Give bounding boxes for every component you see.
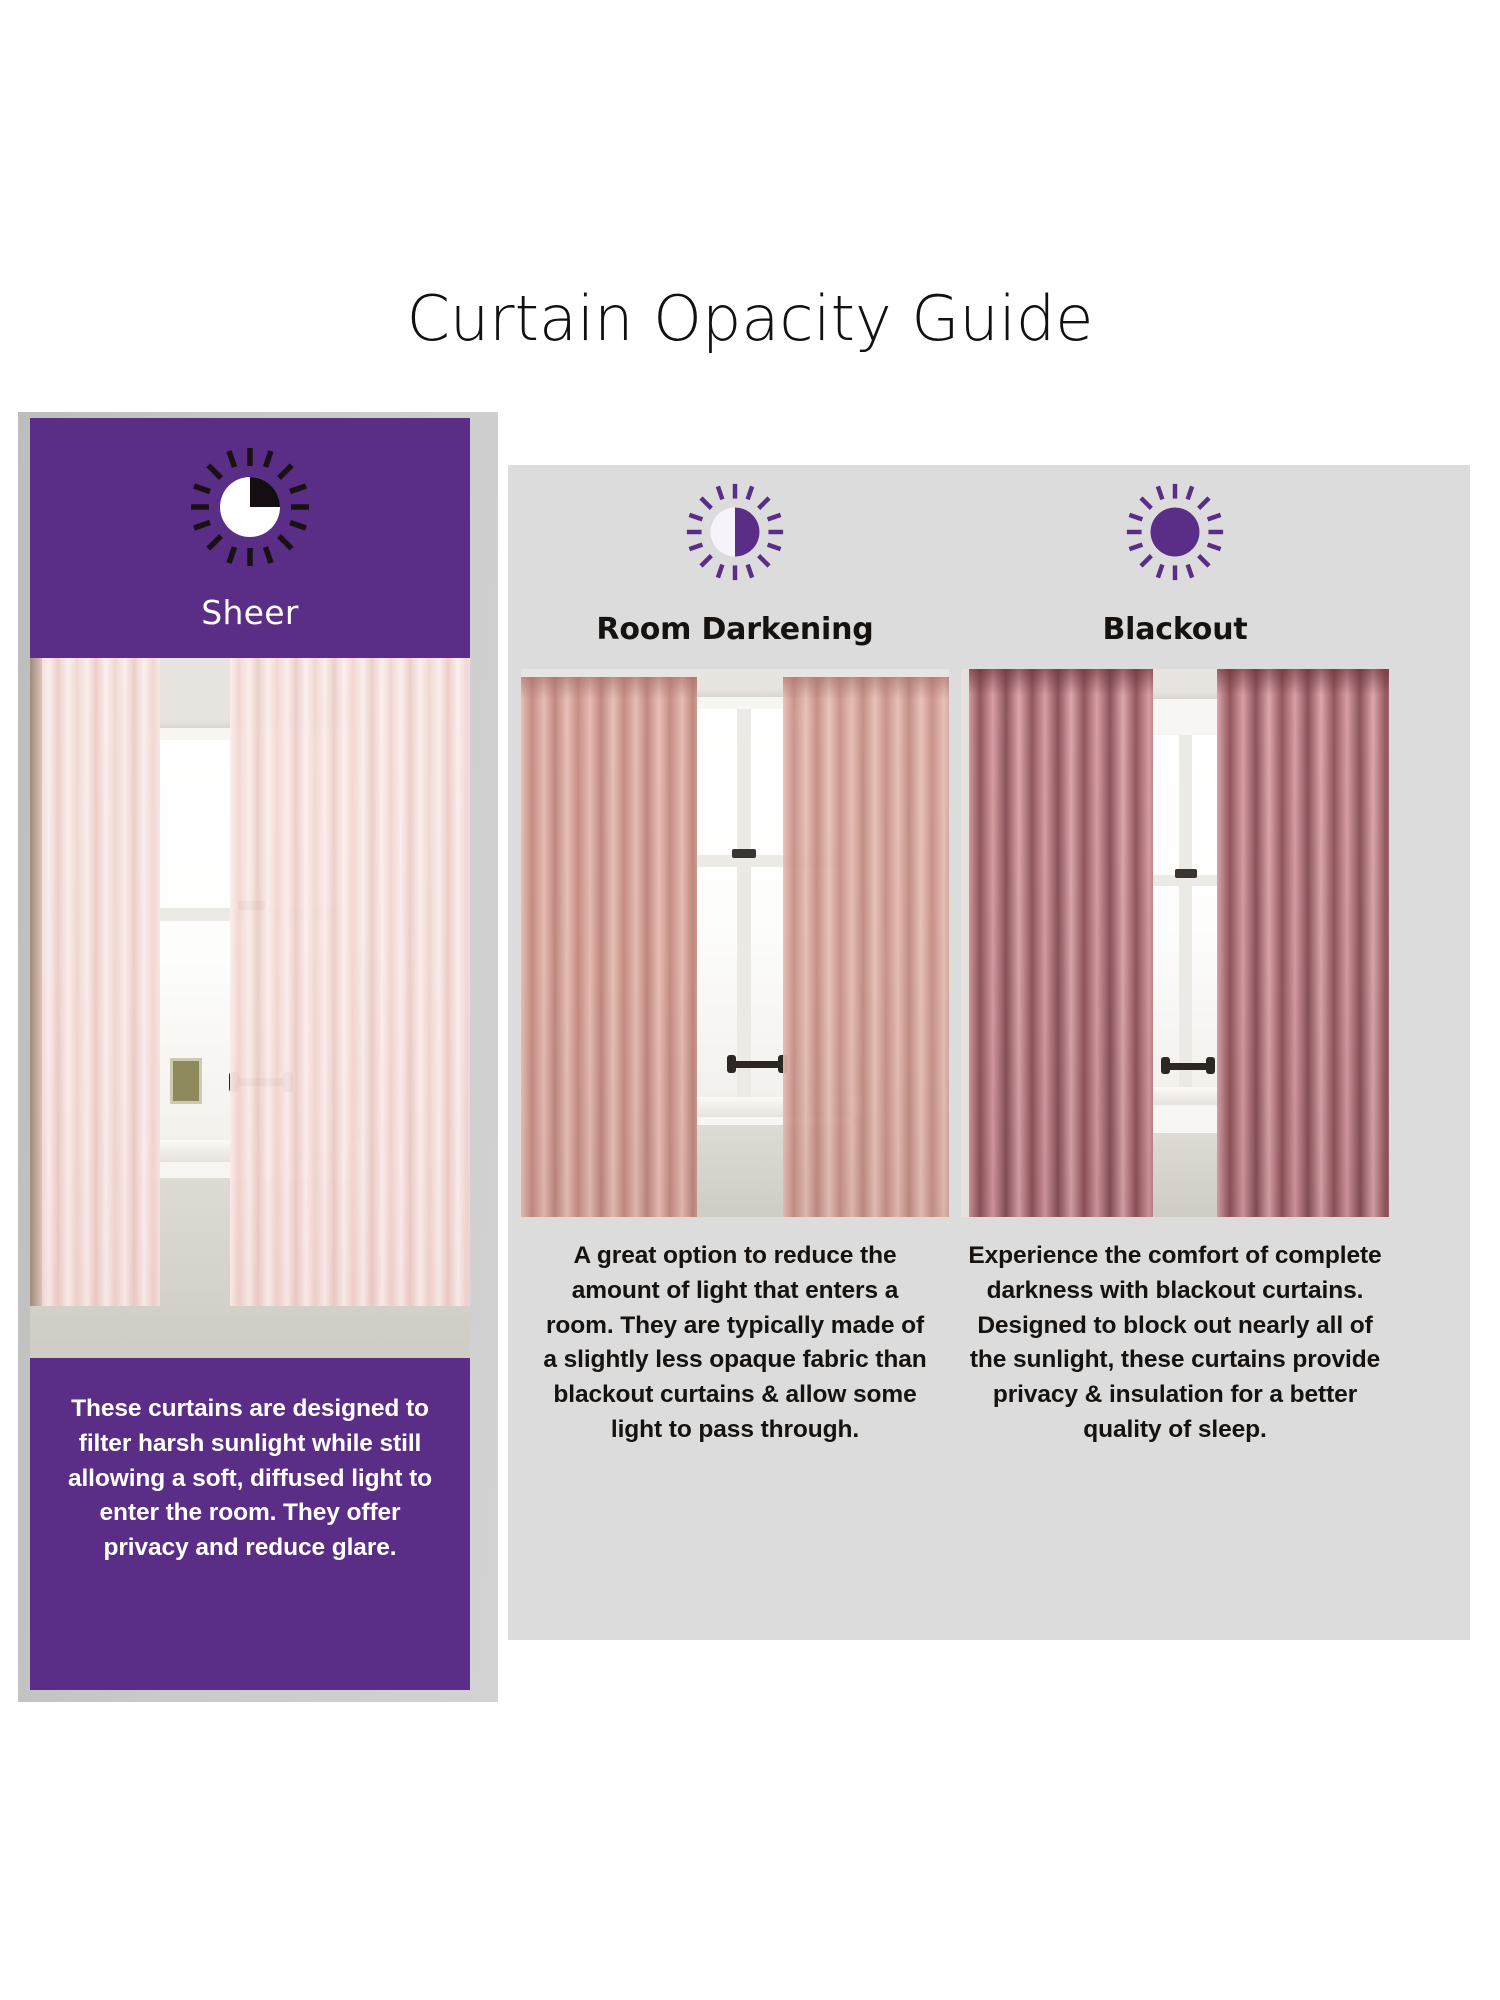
description-sheer: These curtains are designed to filter ha…	[30, 1358, 470, 1690]
sun-quarter-filled-icon	[185, 442, 315, 577]
card-label-blackout: Blackout	[1102, 612, 1247, 647]
card-room-darkening[interactable]: Room Darkening A great option to reduce …	[520, 478, 950, 1448]
photo-blackout	[961, 669, 1389, 1217]
page-title: Curtain Opacity Guide	[0, 288, 1500, 350]
description-room-darkening: A great option to reduce the amount of l…	[540, 1239, 930, 1448]
card-label-sheer: Sheer	[201, 593, 299, 632]
card-sheer[interactable]: Sheer These curtains are designed to fil…	[30, 418, 470, 1690]
photo-room-darkening	[521, 669, 949, 1217]
card-label-room-darkening: Room Darkening	[596, 612, 873, 647]
sheer-card-header: Sheer	[30, 418, 470, 658]
sun-half-filled-icon	[682, 478, 788, 586]
description-blackout: Experience the comfort of complete darkn…	[960, 1239, 1390, 1448]
photo-sheer	[30, 658, 470, 1358]
sun-full-filled-icon	[1122, 478, 1228, 586]
card-blackout[interactable]: Blackout Experience the comfort of compl…	[960, 478, 1390, 1448]
